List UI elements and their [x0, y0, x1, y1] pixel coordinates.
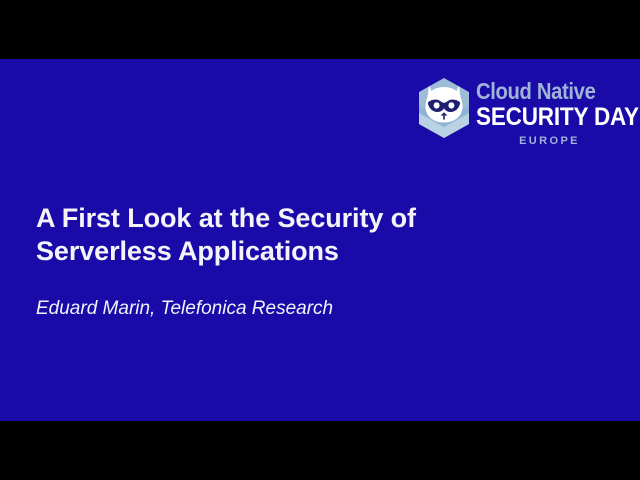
video-frame: Cloud Native SECURITY DAY EUROPE A First… [0, 0, 640, 480]
logo-line-cloud-native: Cloud Native [476, 79, 605, 104]
letterbox-bar-bottom [0, 421, 640, 480]
presentation-slide: Cloud Native SECURITY DAY EUROPE A First… [0, 59, 640, 421]
raccoon-hexagon-icon [418, 77, 470, 139]
slide-title-line-2: Serverless Applications [36, 235, 536, 268]
logo-region-label: EUROPE [476, 135, 623, 147]
slide-title: A First Look at the Security of Serverle… [36, 202, 536, 268]
conference-logo: Cloud Native SECURITY DAY EUROPE [418, 77, 623, 170]
slide-title-line-1: A First Look at the Security of [36, 202, 536, 235]
logo-wordmark: Cloud Native SECURITY DAY [476, 79, 623, 131]
slide-speaker-affiliation: Eduard Marin, Telefonica Research [36, 297, 536, 321]
letterbox-bar-top [0, 0, 640, 59]
logo-line-security-day: SECURITY DAY [476, 104, 608, 131]
